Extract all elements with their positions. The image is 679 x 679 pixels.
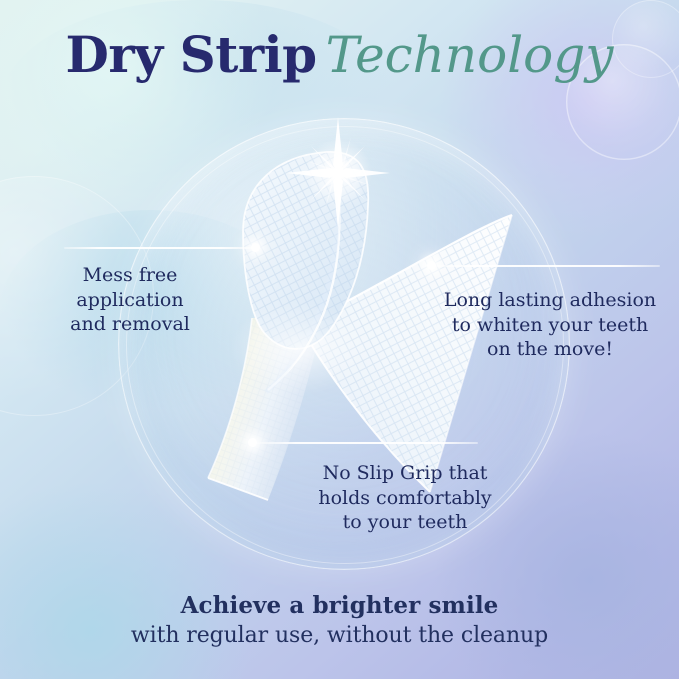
page-title-main: Dry Strip xyxy=(65,25,316,84)
dry-strip-technology-infographic: Dry StripTechnology xyxy=(0,0,679,679)
callout-line-3: on the move! xyxy=(434,337,666,362)
callout-line-2: to whiten your teeth xyxy=(434,313,666,338)
callout-line-3: to your teeth xyxy=(288,510,522,535)
page-title-accent: Technology xyxy=(326,26,614,84)
page-title: Dry StripTechnology xyxy=(0,30,679,80)
callout-dot-no-slip-grip xyxy=(248,438,257,447)
callout-line-1: Long lasting adhesion xyxy=(434,288,666,313)
callout-line-3: and removal xyxy=(22,312,238,337)
footer-tagline-secondary: with regular use, without the cleanup xyxy=(0,623,679,648)
footer-tagline: Achieve a brighter smile with regular us… xyxy=(0,592,679,648)
callout-line-1: No Slip Grip that xyxy=(288,461,522,486)
callout-line-1: Mess free xyxy=(22,263,238,288)
callout-text-long-lasting-adhesion: Long lasting adhesion to whiten your tee… xyxy=(434,288,666,362)
callout-line-long-lasting-adhesion xyxy=(434,265,660,267)
footer-tagline-primary: Achieve a brighter smile xyxy=(0,592,679,619)
callout-line-2: application xyxy=(22,288,238,313)
callout-text-no-slip-grip: No Slip Grip that holds comfortably to y… xyxy=(288,461,522,535)
callout-dot-long-lasting-adhesion xyxy=(427,261,436,270)
callout-text-mess-free: Mess free application and removal xyxy=(22,263,238,337)
callout-line-2: holds comfortably xyxy=(288,486,522,511)
callout-line-no-slip-grip xyxy=(256,442,478,444)
